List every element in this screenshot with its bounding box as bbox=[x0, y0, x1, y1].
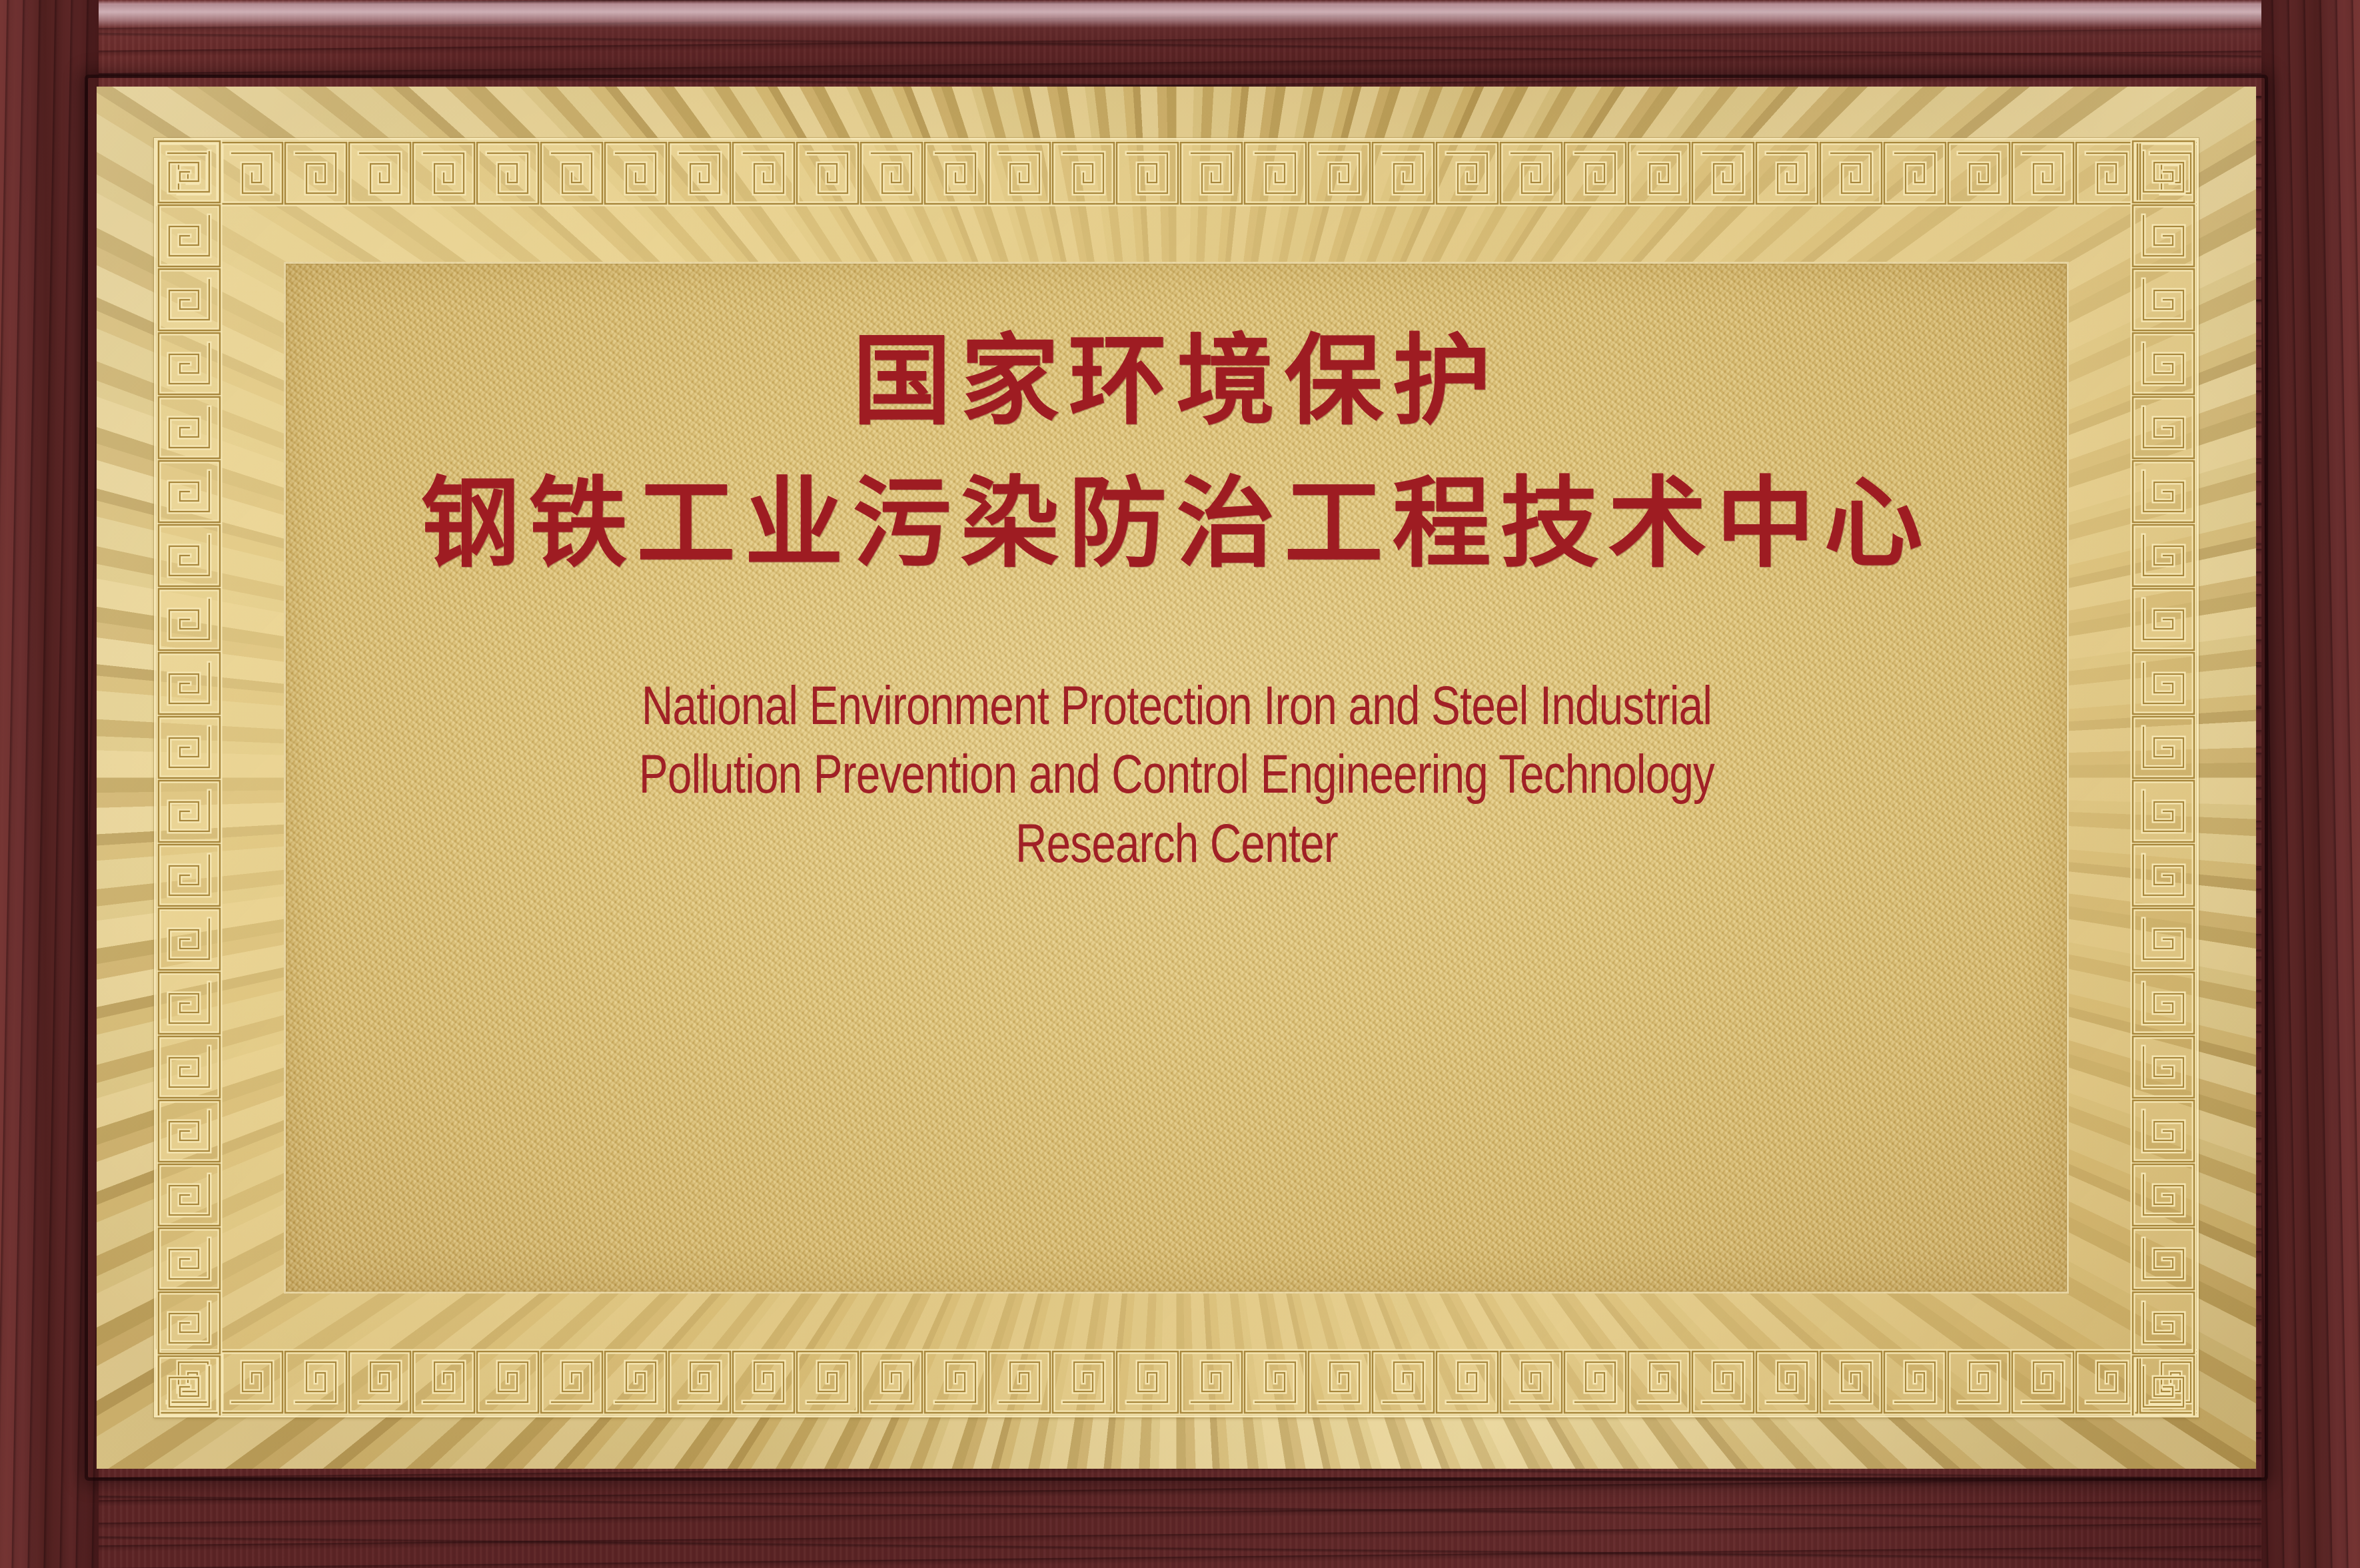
meander-pattern-left-svg bbox=[156, 140, 223, 1415]
wood-frame-right-rail bbox=[2261, 0, 2360, 1568]
meander-band-top bbox=[156, 140, 2197, 206]
meander-pattern-right-svg bbox=[2130, 140, 2197, 1415]
meander-band-right bbox=[2130, 140, 2197, 1415]
meander-pattern-top-svg bbox=[156, 140, 2197, 206]
gold-plate: 国家环境保护 钢铁工业污染防治工程技术中心 National Environme… bbox=[97, 87, 2256, 1469]
wood-frame-left-rail bbox=[0, 0, 99, 1568]
plaque-screenshot: 国家环境保护 钢铁工业污染防治工程技术中心 National Environme… bbox=[0, 0, 2360, 1568]
meander-band-left bbox=[156, 140, 223, 1415]
meander-band-bottom bbox=[156, 1349, 2197, 1415]
meander-pattern-bottom-svg bbox=[156, 1349, 2197, 1415]
meander-border-frame bbox=[154, 138, 2199, 1417]
inner-gold-field bbox=[284, 262, 2069, 1294]
